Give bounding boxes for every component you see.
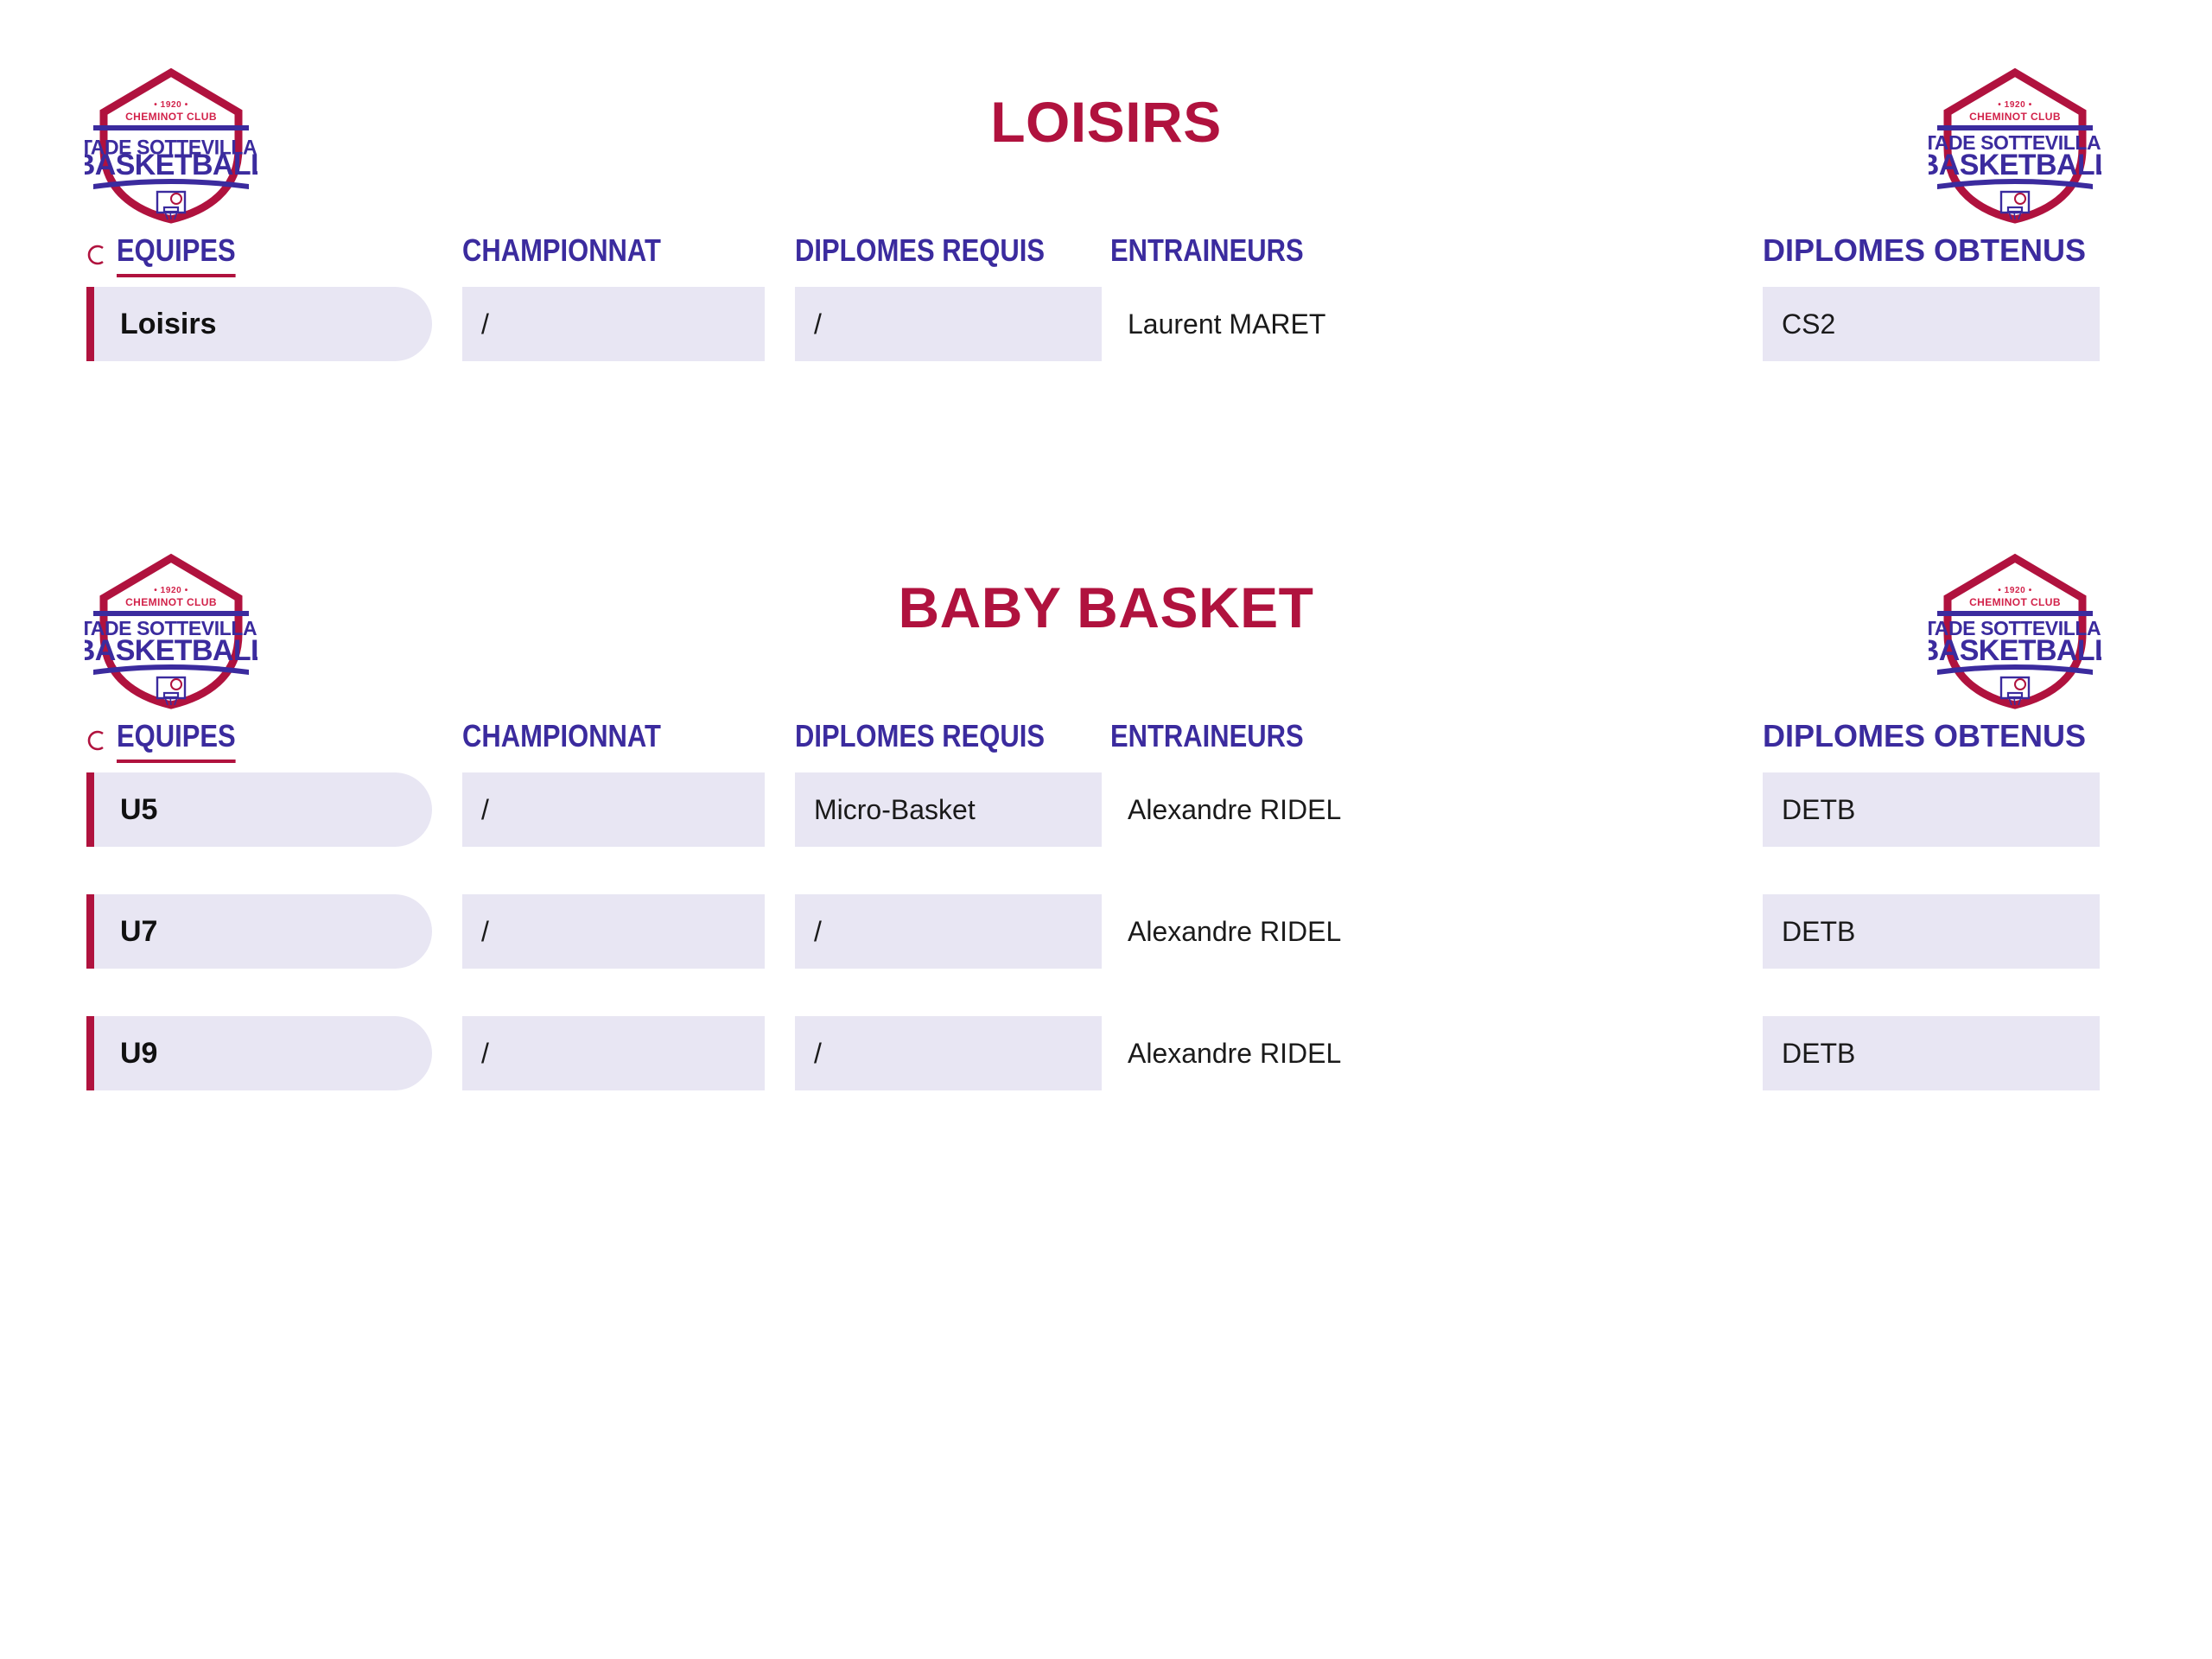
svg-text:CHEMINOT CLUB: CHEMINOT CLUB bbox=[1969, 596, 2061, 608]
club-logo-right: • 1920 • CHEMINOT CLUB STADE SOTTEVILLAI… bbox=[1929, 537, 2101, 710]
svg-text:BASKETBALL: BASKETBALL bbox=[85, 634, 257, 667]
cell-diplomes-requis: / bbox=[795, 287, 1102, 361]
cell-entraineurs: Alexandre RIDEL bbox=[1128, 894, 1663, 969]
cell-entraineurs: Alexandre RIDEL bbox=[1128, 772, 1663, 847]
cell-diplomes-obtenus: DETB bbox=[1763, 772, 2100, 847]
svg-text:CHEMINOT CLUB: CHEMINOT CLUB bbox=[1969, 111, 2061, 123]
table-row[interactable]: U7 / / Alexandre RIDEL DETB bbox=[0, 894, 2212, 969]
arc-circle-icon bbox=[86, 242, 109, 268]
table-row[interactable]: Loisirs / / Laurent MARET CS2 bbox=[0, 287, 2212, 361]
cell-equipe[interactable]: U9 bbox=[86, 1016, 432, 1090]
section-title-loisirs: LOISIRS bbox=[0, 93, 2212, 150]
column-header-entraineurs: ENTRAINEURS bbox=[1110, 719, 1304, 753]
column-header-diplomes-obtenus: DIPLOMES OBTENUS bbox=[1763, 233, 2086, 268]
column-header-championnat: CHAMPIONNAT bbox=[462, 719, 661, 753]
column-headers-loisirs: EQUIPES CHAMPIONNAT DIPLOMES REQUIS ENTR… bbox=[0, 233, 2212, 287]
svg-text:BASKETBALL: BASKETBALL bbox=[1929, 149, 2101, 181]
cell-championnat: / bbox=[462, 894, 765, 969]
cell-entraineurs: Laurent MARET bbox=[1128, 287, 1663, 361]
section-loisirs: • 1920 • CHEMINOT CLUB STADE SOTTEVILLAI… bbox=[0, 52, 2212, 409]
equipes-header-group: EQUIPES bbox=[86, 719, 255, 763]
table-baby-basket: EQUIPES CHAMPIONNAT DIPLOMES REQUIS ENTR… bbox=[0, 719, 2212, 1090]
svg-text:• 1920 •: • 1920 • bbox=[1998, 100, 2032, 110]
cell-equipe[interactable]: Loisirs bbox=[86, 287, 432, 361]
svg-text:BASKETBALL: BASKETBALL bbox=[1929, 634, 2101, 667]
column-header-diplomes-requis: DIPLOMES REQUIS bbox=[795, 233, 1045, 268]
column-header-championnat: CHAMPIONNAT bbox=[462, 233, 661, 268]
cell-diplomes-requis: Micro-Basket bbox=[795, 772, 1102, 847]
cell-championnat: / bbox=[462, 287, 765, 361]
cell-championnat: / bbox=[462, 1016, 765, 1090]
cell-diplomes-obtenus: DETB bbox=[1763, 1016, 2100, 1090]
table-row[interactable]: U9 / / Alexandre RIDEL DETB bbox=[0, 1016, 2212, 1090]
cell-diplomes-requis: / bbox=[795, 894, 1102, 969]
column-header-equipes: EQUIPES bbox=[117, 719, 236, 763]
table-loisirs: EQUIPES CHAMPIONNAT DIPLOMES REQUIS ENTR… bbox=[0, 233, 2212, 361]
cell-diplomes-obtenus: CS2 bbox=[1763, 287, 2100, 361]
cell-diplomes-requis: / bbox=[795, 1016, 1102, 1090]
column-header-diplomes-obtenus: DIPLOMES OBTENUS bbox=[1763, 719, 2086, 753]
section-title-baby-basket: BABY BASKET bbox=[0, 579, 2212, 636]
column-header-diplomes-requis: DIPLOMES REQUIS bbox=[795, 719, 1045, 753]
cell-equipe[interactable]: U5 bbox=[86, 772, 432, 847]
cell-equipe[interactable]: U7 bbox=[86, 894, 432, 969]
equipes-header-group: EQUIPES bbox=[86, 233, 255, 277]
arc-circle-icon bbox=[86, 728, 109, 753]
svg-text:BASKETBALL: BASKETBALL bbox=[85, 149, 257, 181]
column-header-equipes: EQUIPES bbox=[117, 233, 236, 277]
page-root: • 1920 • CHEMINOT CLUB STADE SOTTEVILLAI… bbox=[0, 0, 2212, 1659]
section-header-baby-basket: • 1920 • CHEMINOT CLUB STADE SOTTEVILLAI… bbox=[0, 537, 2212, 719]
table-row[interactable]: U5 / Micro-Basket Alexandre RIDEL DETB bbox=[0, 772, 2212, 847]
cell-championnat: / bbox=[462, 772, 765, 847]
section-baby-basket: • 1920 • CHEMINOT CLUB STADE SOTTEVILLAI… bbox=[0, 537, 2212, 1138]
club-logo-right: • 1920 • CHEMINOT CLUB STADE SOTTEVILLAI… bbox=[1929, 52, 2101, 225]
cell-entraineurs: Alexandre RIDEL bbox=[1128, 1016, 1663, 1090]
svg-text:• 1920 •: • 1920 • bbox=[1998, 586, 2032, 595]
section-header-loisirs: • 1920 • CHEMINOT CLUB STADE SOTTEVILLAI… bbox=[0, 52, 2212, 233]
column-header-entraineurs: ENTRAINEURS bbox=[1110, 233, 1304, 268]
column-headers-baby-basket: EQUIPES CHAMPIONNAT DIPLOMES REQUIS ENTR… bbox=[0, 719, 2212, 772]
cell-diplomes-obtenus: DETB bbox=[1763, 894, 2100, 969]
